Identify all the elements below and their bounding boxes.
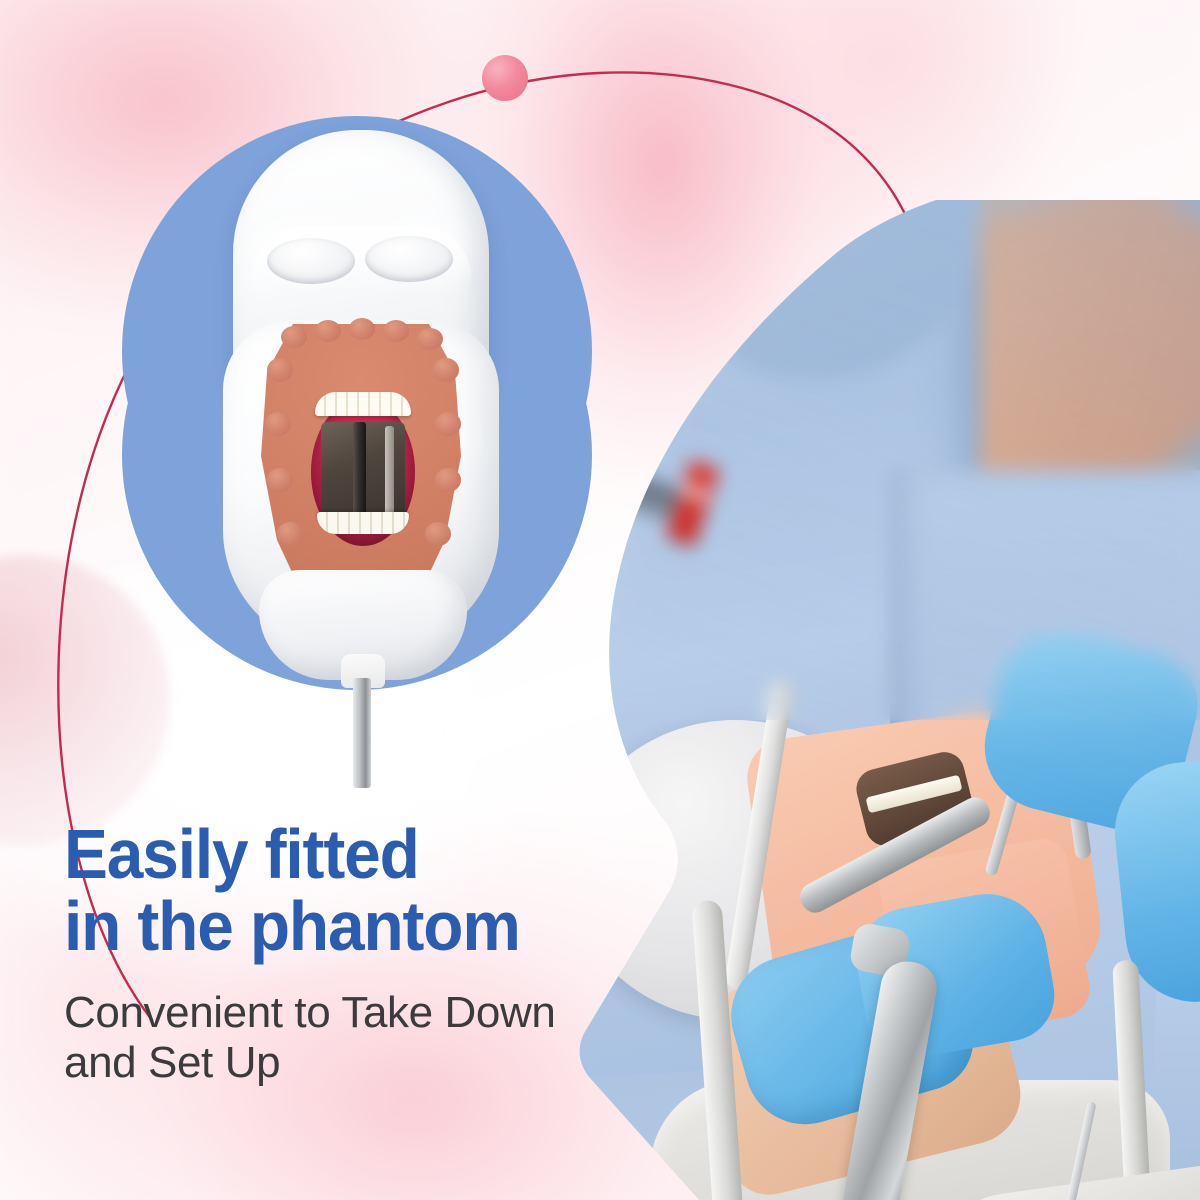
- page-title: Easily fitted in the phantom: [64, 818, 647, 962]
- phantom-eye-left: [267, 238, 355, 284]
- phantom-bump: [435, 468, 461, 492]
- phantom-bump: [265, 412, 291, 436]
- phantom-bump: [281, 326, 307, 348]
- accent-dot-icon: [482, 55, 528, 101]
- text-block: Easily fitted in the phantom Convenient …: [64, 818, 684, 1088]
- phantom-eye-right: [365, 236, 453, 282]
- phantom-bump: [267, 358, 293, 382]
- phantom-bump: [435, 412, 461, 436]
- phantom-bump: [433, 358, 459, 382]
- phantom-lower-teeth: [317, 512, 409, 534]
- phantom-head-inset: [215, 130, 505, 670]
- phantom-bump: [425, 522, 451, 546]
- phantom-mount-pole: [353, 678, 371, 788]
- phantom-bump: [417, 328, 443, 350]
- page-subtitle: Convenient to Take Down and Set Up: [64, 988, 684, 1088]
- poster-canvas: Easily fitted in the phantom Convenient …: [0, 0, 1200, 1200]
- phantom-upper-teeth: [315, 392, 411, 416]
- phantom-bump: [277, 522, 303, 546]
- phantom-bump: [383, 320, 409, 342]
- phantom-bump: [349, 318, 375, 340]
- phantom-bump: [315, 320, 341, 342]
- phantom-bump: [267, 468, 293, 492]
- phantom-inner-rod: [353, 422, 366, 522]
- phantom-inner-bracket: [385, 426, 394, 518]
